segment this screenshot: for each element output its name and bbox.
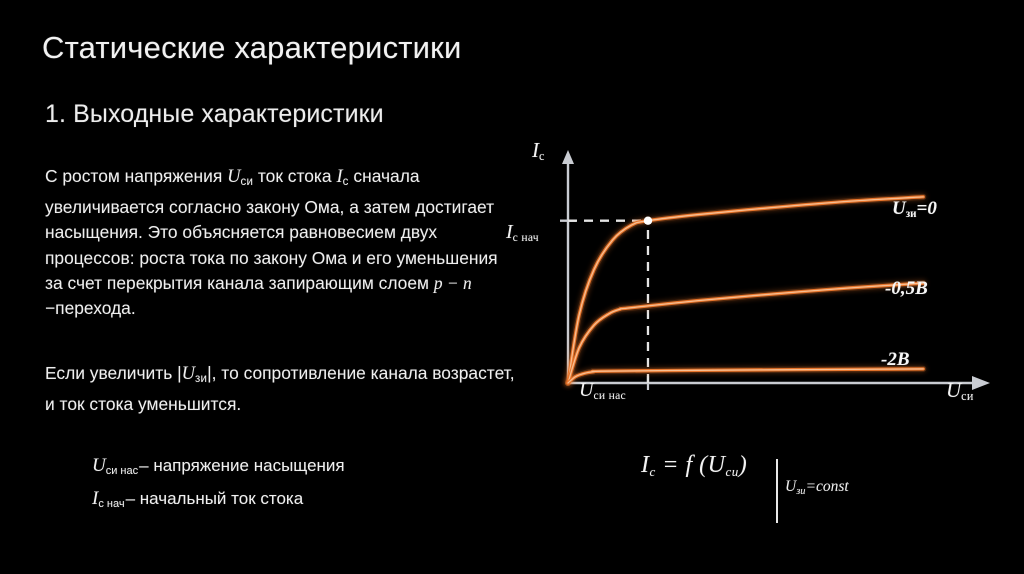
chart-axes <box>560 150 990 390</box>
formula-expression: Iс = f (Uси) <box>641 452 747 478</box>
paragraph-resistance: Если увеличить |Uзи|, то сопротивление к… <box>45 361 515 417</box>
definition-text-initial-drain-current: – начальный ток стока <box>126 489 304 508</box>
curve-0 <box>568 197 923 383</box>
x-axis-tick-label-saturation-voltage: Uси нас <box>579 379 626 402</box>
definition-row-saturation-voltage: Uси нас– напряжение насыщения <box>92 452 345 485</box>
formula-condition: Uзи=const <box>785 478 849 497</box>
definition-row-initial-drain-current: Iс нач– начальный ток стока <box>92 485 345 518</box>
saturation-point-marker <box>644 216 652 224</box>
symbol-p-n-junction: p − n <box>434 273 472 293</box>
y-axis-tick-label-initial-current: Iс нач <box>506 221 539 244</box>
formula-block: Iс = f (Uси) <box>641 452 747 480</box>
curve-core-0 <box>568 197 923 383</box>
output-characteristics-chart: Iс Uси Iс нач Uси нас Uзи=0 -0,5В -2В <box>500 134 1024 422</box>
x-axis-label: Uси <box>946 378 974 404</box>
formula-condition-bar <box>776 459 778 523</box>
para2-text-a: Если увеличить | <box>45 363 182 383</box>
definition-symbol-i-cnach: Iс нач <box>92 488 125 509</box>
symbol-u-zi: Uзи <box>182 364 207 384</box>
curve-glow-0 <box>568 197 923 383</box>
definition-symbol-u-sinas: Uси нас <box>92 455 138 476</box>
definition-list: Uси нас– напряжение насыщения Iс нач– на… <box>92 452 345 518</box>
curve-label-ugs-0: Uзи=0 <box>892 198 937 220</box>
y-axis-label: Iс <box>532 138 545 164</box>
chart-curves <box>568 197 923 383</box>
chart-markers <box>644 216 652 224</box>
chart-curves-glow <box>568 197 923 383</box>
paragraph-explanation: С ростом напряжения Uси ток стока Iс сна… <box>45 164 515 321</box>
curve-label-minus-0-5v: -0,5В <box>885 278 928 300</box>
symbol-i-c: Iс <box>336 167 348 187</box>
curve-label-minus-2v: -2В <box>881 349 910 371</box>
para1-text-b: ток стока <box>253 166 336 186</box>
definition-text-saturation-voltage: – напряжение насыщения <box>139 456 345 475</box>
page-title: Статические характеристики <box>42 30 461 66</box>
para1-text-d: −перехода. <box>45 298 136 318</box>
symbol-u-si: Uси <box>227 167 253 187</box>
para1-text-a: С ростом напряжения <box>45 166 227 186</box>
slide-canvas: Статические характеристики 1. Выходные х… <box>0 0 1024 574</box>
section-title: 1. Выходные характеристики <box>45 100 384 129</box>
